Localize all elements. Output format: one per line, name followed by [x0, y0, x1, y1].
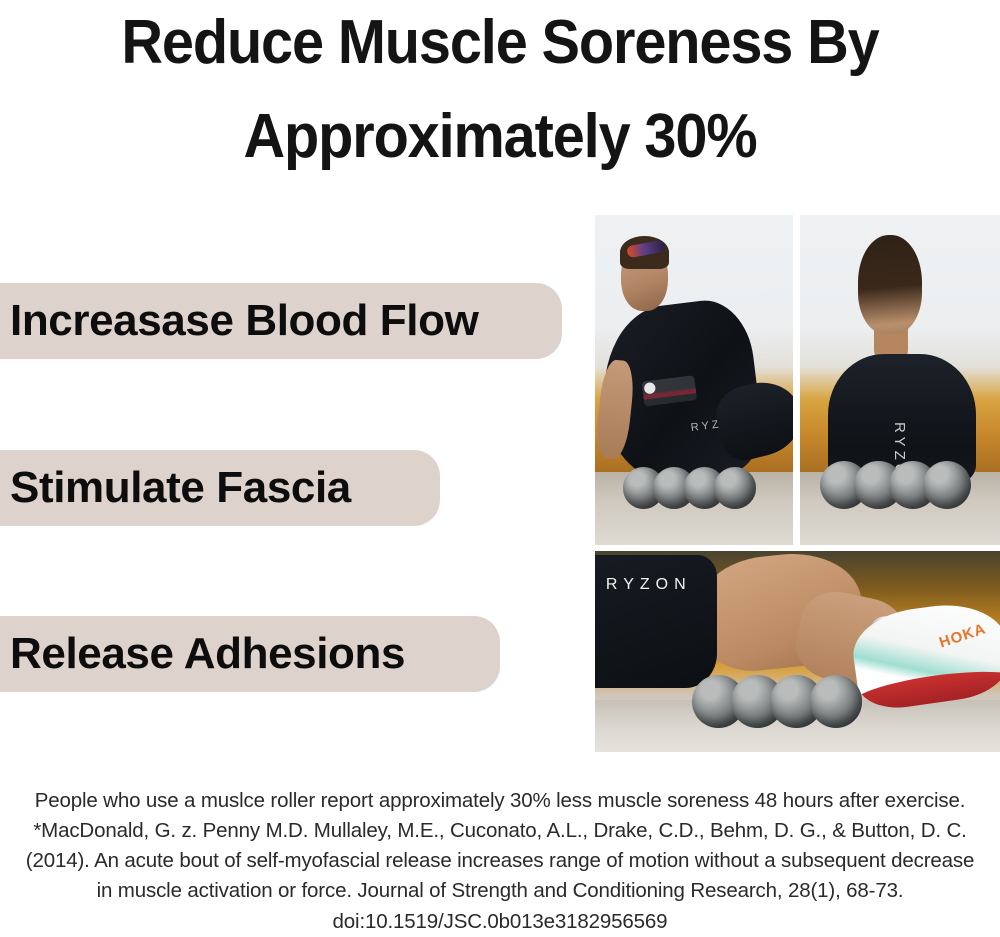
roller-ball [923, 461, 971, 509]
benefit-pill-stimulate-fascia: Stimulate Fascia [0, 450, 440, 526]
athlete-head [858, 235, 922, 334]
benefit-pill-increase-blood-flow: Increasase Blood Flow [0, 283, 562, 359]
benefit-pill-label: Release Adhesions [10, 632, 405, 676]
muscle-roller-benefits-infographic: { "headline": "Reduce Muscle Soreness By… [0, 0, 1000, 930]
page-title: Reduce Muscle Soreness By Approximately … [35, 0, 965, 184]
massage-roller [692, 623, 862, 728]
massage-roller [820, 446, 992, 509]
roller-ball [810, 675, 863, 728]
benefit-pill-release-adhesions: Release Adhesions [0, 616, 500, 692]
footnote-citation: People who use a muslce roller report ap… [20, 786, 980, 937]
benefit-pill-label: Increasase Blood Flow [10, 299, 478, 343]
shorts-brand-text: RYZON [606, 576, 692, 594]
shoe-brand-text: HOKA [938, 621, 989, 652]
massage-roller [623, 453, 762, 509]
roller-ball [714, 467, 756, 509]
photo-athlete-back-view-rolling: RYZON [800, 215, 1000, 545]
photo-collage: RYZON RYZON [595, 215, 1000, 752]
jersey-logo [642, 376, 697, 407]
photo-legs-rolling-closeup: RYZON HOKA [595, 551, 1000, 752]
benefit-pill-label: Stimulate Fascia [10, 466, 351, 510]
photo-athlete-seated-rolling-back: RYZON [595, 215, 793, 545]
